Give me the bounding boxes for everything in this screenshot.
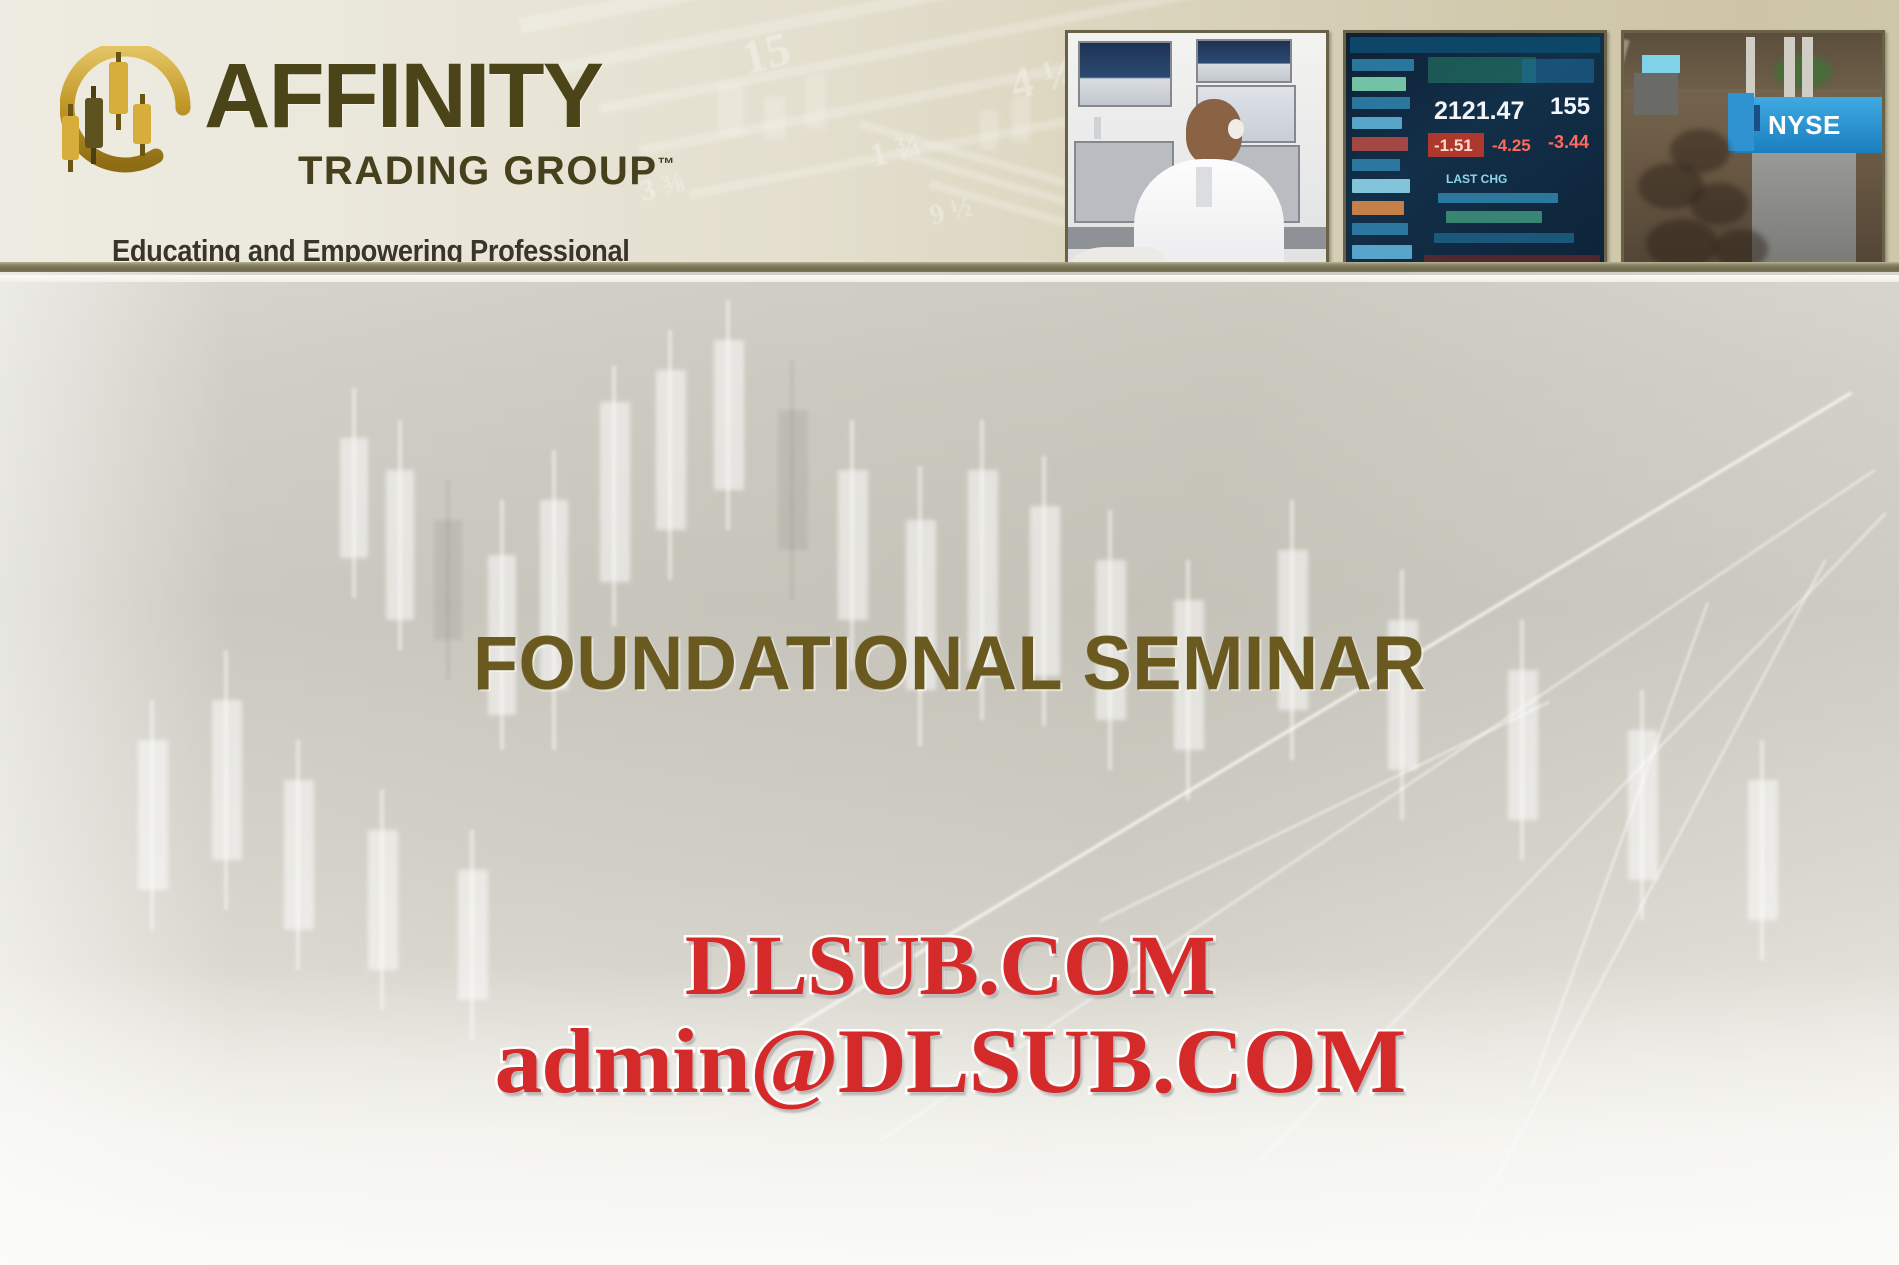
side-value: 155 (1550, 95, 1590, 119)
trader-at-desk-photo (1065, 30, 1329, 272)
board-label: LAST CHG (1446, 173, 1507, 185)
watermark-site: DLSUB.COM (0, 915, 1899, 1015)
brand-logo: AFFINITY TRADING GROUP™ Educating and Em… (52, 28, 752, 218)
header-divider (0, 262, 1899, 272)
brand-name: AFFINITY (204, 50, 602, 142)
page-title: FOUNDATIONAL SEMINAR (28, 620, 1870, 707)
index-value: 2121.47 (1434, 99, 1524, 124)
market-data-board-photo: 2121.47 155 -1.51 -4.25 -3.44 LAST CHG -… (1343, 30, 1607, 272)
header-divider-highlight (0, 275, 1899, 282)
watermark-email: admin@DLSUB.COM (0, 1008, 1899, 1114)
nyse-sign: NYSE (1734, 97, 1882, 153)
slide-canvas: 15 4 ¼ 1 ¾ 3 ⅜ 9 ½ (0, 0, 1899, 1265)
brand-subtitle-text: TRADING GROUP (298, 149, 658, 193)
watermark-email-text: admin@DLSUB.COM (494, 1008, 1405, 1114)
watermark-site-text: DLSUB.COM (685, 915, 1215, 1015)
candlestick-circle-logo-icon (60, 46, 196, 182)
nyse-sign-text: NYSE (1768, 110, 1841, 141)
change-2: -4.25 (1492, 137, 1531, 154)
nyse-trading-floor-photo: NYSE (1621, 30, 1885, 272)
brand-subtitle: TRADING GROUP™ (298, 151, 675, 191)
change-1: -1.51 (1434, 137, 1473, 154)
change-3: -3.44 (1548, 133, 1589, 151)
header-photo-strip: 2121.47 155 -1.51 -4.25 -3.44 LAST CHG -… (1065, 30, 1883, 272)
trademark-icon: ™ (658, 155, 675, 174)
header-banner: 15 4 ¼ 1 ¾ 3 ⅜ 9 ½ (0, 0, 1899, 272)
background-candlestick-chart (0, 270, 1899, 1265)
